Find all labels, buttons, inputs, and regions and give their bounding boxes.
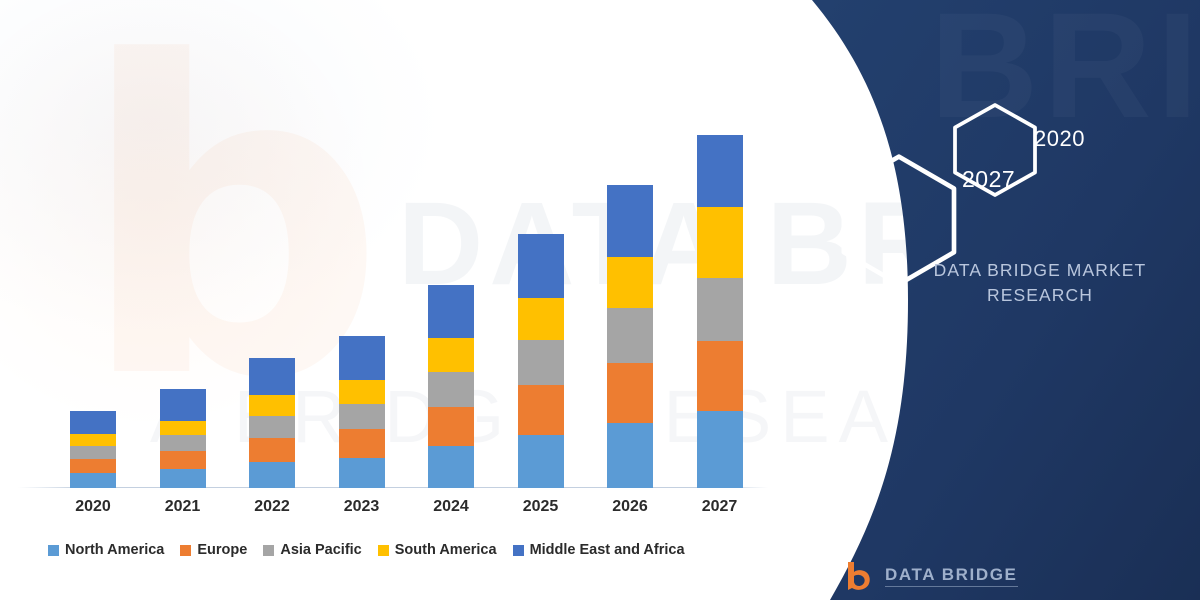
x-axis-label-2024: 2024	[411, 498, 491, 516]
infographic-canvas: b A BRIDGE RESEARCH DATA BR BRIDGE 2027 …	[0, 0, 1200, 600]
bar-segment-north-america-2020[interactable]	[70, 473, 116, 488]
chart-legend: North AmericaEuropeAsia PacificSouth Ame…	[48, 543, 685, 558]
bar-segment-europe-2026[interactable]	[607, 363, 653, 423]
brand-name-text: DATA BRIDGE MARKET RESEARCH	[895, 258, 1185, 308]
footer-logo-text: DATA BRIDGE	[885, 565, 1018, 588]
bar-segment-north-america-2023[interactable]	[339, 458, 385, 488]
bar-group-2025[interactable]	[518, 234, 564, 488]
bar-segment-north-america-2026[interactable]	[607, 423, 653, 488]
bar-group-2026[interactable]	[607, 185, 653, 488]
x-axis-label-2026: 2026	[590, 498, 670, 516]
bar-segment-middle-east-and-africa-2024[interactable]	[428, 285, 474, 338]
legend-label: Europe	[197, 543, 247, 558]
bar-segment-europe-2025[interactable]	[518, 385, 564, 435]
bar-series-container	[0, 0, 800, 492]
hexagon-2027-label: 2027	[962, 166, 1015, 193]
legend-item-asia-pacific[interactable]: Asia Pacific	[263, 543, 361, 558]
legend-label: South America	[395, 543, 497, 558]
bar-stack	[518, 234, 564, 488]
bar-segment-middle-east-and-africa-2025[interactable]	[518, 234, 564, 298]
legend-swatch-south-america	[378, 545, 389, 556]
bar-segment-asia-pacific-2022[interactable]	[249, 416, 295, 438]
bar-segment-europe-2020[interactable]	[70, 459, 116, 473]
bar-group-2020[interactable]	[70, 411, 116, 488]
legend-item-north-america[interactable]: North America	[48, 543, 164, 558]
legend-label: Asia Pacific	[280, 543, 361, 558]
brand-name-line-1: DATA BRIDGE MARKET	[895, 258, 1185, 283]
bar-group-2021[interactable]	[160, 389, 206, 488]
bar-segment-middle-east-and-africa-2027[interactable]	[697, 135, 743, 207]
bar-stack	[428, 285, 474, 488]
bar-segment-middle-east-and-africa-2026[interactable]	[607, 185, 653, 257]
bar-segment-north-america-2022[interactable]	[249, 462, 295, 488]
x-axis-label-2022: 2022	[232, 498, 312, 516]
legend-swatch-europe	[180, 545, 191, 556]
bar-segment-asia-pacific-2023[interactable]	[339, 404, 385, 430]
bar-segment-asia-pacific-2027[interactable]	[697, 278, 743, 342]
bar-segment-asia-pacific-2024[interactable]	[428, 372, 474, 408]
bar-segment-south-america-2023[interactable]	[339, 380, 385, 404]
bar-segment-asia-pacific-2021[interactable]	[160, 435, 206, 451]
x-axis-tick-labels: 20202021202220232024202520262027	[0, 498, 800, 528]
bar-segment-asia-pacific-2020[interactable]	[70, 446, 116, 459]
x-axis-label-2023: 2023	[322, 498, 402, 516]
x-axis-label-2025: 2025	[501, 498, 581, 516]
bar-segment-south-america-2025[interactable]	[518, 298, 564, 340]
bar-segment-north-america-2021[interactable]	[160, 469, 206, 488]
bar-segment-europe-2027[interactable]	[697, 341, 743, 410]
footer-logo: DATA BRIDGE	[845, 560, 1018, 592]
bar-segment-middle-east-and-africa-2021[interactable]	[160, 389, 206, 421]
bar-stack	[697, 135, 743, 488]
legend-label: North America	[65, 543, 164, 558]
bar-segment-south-america-2027[interactable]	[697, 207, 743, 278]
bar-segment-south-america-2022[interactable]	[249, 395, 295, 416]
legend-item-middle-east-and-africa[interactable]: Middle East and Africa	[513, 543, 685, 558]
bar-segment-south-america-2020[interactable]	[70, 434, 116, 446]
legend-swatch-middle-east-and-africa	[513, 545, 524, 556]
bar-segment-south-america-2026[interactable]	[607, 257, 653, 308]
bar-segment-europe-2024[interactable]	[428, 407, 474, 446]
bar-segment-middle-east-and-africa-2022[interactable]	[249, 358, 295, 395]
bar-segment-south-america-2021[interactable]	[160, 421, 206, 436]
stacked-bar-chart: 20202021202220232024202520262027 North A…	[0, 0, 800, 600]
x-axis-label-2021: 2021	[143, 498, 223, 516]
legend-label: Middle East and Africa	[530, 543, 685, 558]
bar-segment-europe-2022[interactable]	[249, 438, 295, 462]
bar-stack	[339, 336, 385, 488]
bar-segment-north-america-2025[interactable]	[518, 435, 564, 488]
bar-group-2027[interactable]	[697, 135, 743, 488]
bar-group-2022[interactable]	[249, 358, 295, 488]
hexagon-2020-label: 2020	[1034, 126, 1085, 152]
bar-segment-north-america-2024[interactable]	[428, 446, 474, 488]
brand-name-line-2: RESEARCH	[895, 283, 1185, 308]
bar-stack	[249, 358, 295, 488]
bar-segment-middle-east-and-africa-2020[interactable]	[70, 411, 116, 434]
bar-segment-north-america-2027[interactable]	[697, 411, 743, 488]
bar-segment-europe-2023[interactable]	[339, 429, 385, 457]
bar-segment-asia-pacific-2026[interactable]	[607, 308, 653, 363]
bar-stack	[160, 389, 206, 488]
legend-item-south-america[interactable]: South America	[378, 543, 497, 558]
x-axis-label-2027: 2027	[680, 498, 760, 516]
bar-group-2024[interactable]	[428, 285, 474, 488]
legend-item-europe[interactable]: Europe	[180, 543, 247, 558]
bar-segment-south-america-2024[interactable]	[428, 338, 474, 371]
bar-stack	[70, 411, 116, 488]
data-bridge-b-logo-icon	[845, 560, 875, 592]
bar-segment-middle-east-and-africa-2023[interactable]	[339, 336, 385, 379]
bar-segment-europe-2021[interactable]	[160, 451, 206, 469]
bar-stack	[607, 185, 653, 488]
legend-swatch-north-america	[48, 545, 59, 556]
bar-group-2023[interactable]	[339, 336, 385, 488]
x-axis-label-2020: 2020	[53, 498, 133, 516]
legend-swatch-asia-pacific	[263, 545, 274, 556]
bar-segment-asia-pacific-2025[interactable]	[518, 340, 564, 385]
